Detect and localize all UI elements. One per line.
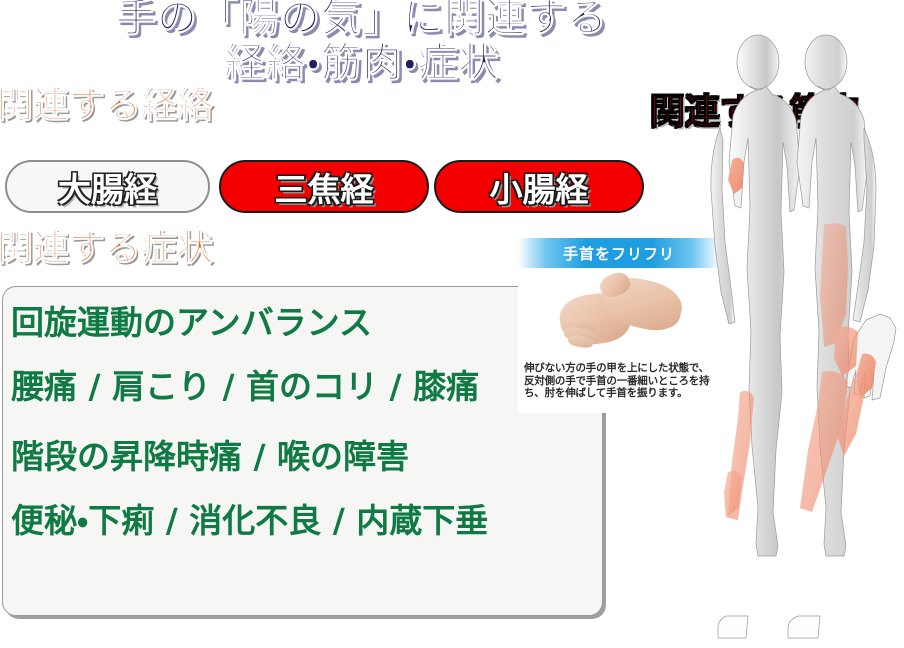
meridian-button-label: 大腸経: [58, 163, 157, 211]
exercise-card[interactable]: 手首をフリフリ 伸びない方の手の甲を上にした状態で、反対側の手で手首の一番細いと…: [518, 238, 720, 413]
exercise-card-header: 手首をフリフリ: [518, 238, 720, 268]
anatomy-figure: [706, 20, 904, 644]
page-title: 手の「陽の気」に関連する 経絡・筋肉・症状: [0, 0, 724, 86]
symptom-line: 階段の昇降時痛 / 喉の障害: [11, 437, 602, 477]
symptoms-panel: 回旋運動のアンバランス 腰痛 / 肩こり / 首のコリ / 膝痛 階段の昇降時痛…: [2, 286, 603, 616]
meridian-button-label: 三焦経: [275, 163, 374, 211]
highlighted-muscle: [724, 158, 876, 520]
page-title-line1: 手の「陽の気」に関連する: [116, 0, 608, 41]
poster-canvas: 手の「陽の気」に関連する 経絡・筋肉・症状 関連する経絡 関連する症状 関連する…: [0, 0, 904, 644]
symptom-line: 回旋運動のアンバランス: [11, 303, 602, 343]
hands-illustration: [560, 272, 684, 358]
meridians-section-header: 関連する経絡: [0, 86, 213, 126]
symptoms-section-header: 関連する症状: [0, 229, 213, 269]
exercise-card-title: 手首をフリフリ: [563, 243, 675, 264]
meridian-button-sanshoukei[interactable]: 三焦経: [219, 160, 429, 213]
meridian-button-shouchoukei[interactable]: 小腸経: [434, 160, 644, 213]
exercise-photo: [518, 268, 720, 360]
exercise-caption: 伸びない方の手の甲を上にした状態で、反対側の手で手首の一番細いところを持ち、肘を…: [518, 360, 720, 400]
meridian-button-daichoukei[interactable]: 大腸経: [5, 160, 210, 213]
symptom-line: 便秘・下痢 / 消化不良 / 内蔵下垂: [11, 501, 602, 541]
anatomy-svg: [706, 20, 904, 644]
page-title-line2: 経絡・筋肉・症状: [0, 41, 724, 86]
symptom-line: 腰痛 / 肩こり / 首のコリ / 膝痛: [11, 367, 602, 407]
meridian-button-label: 小腸経: [490, 163, 589, 211]
